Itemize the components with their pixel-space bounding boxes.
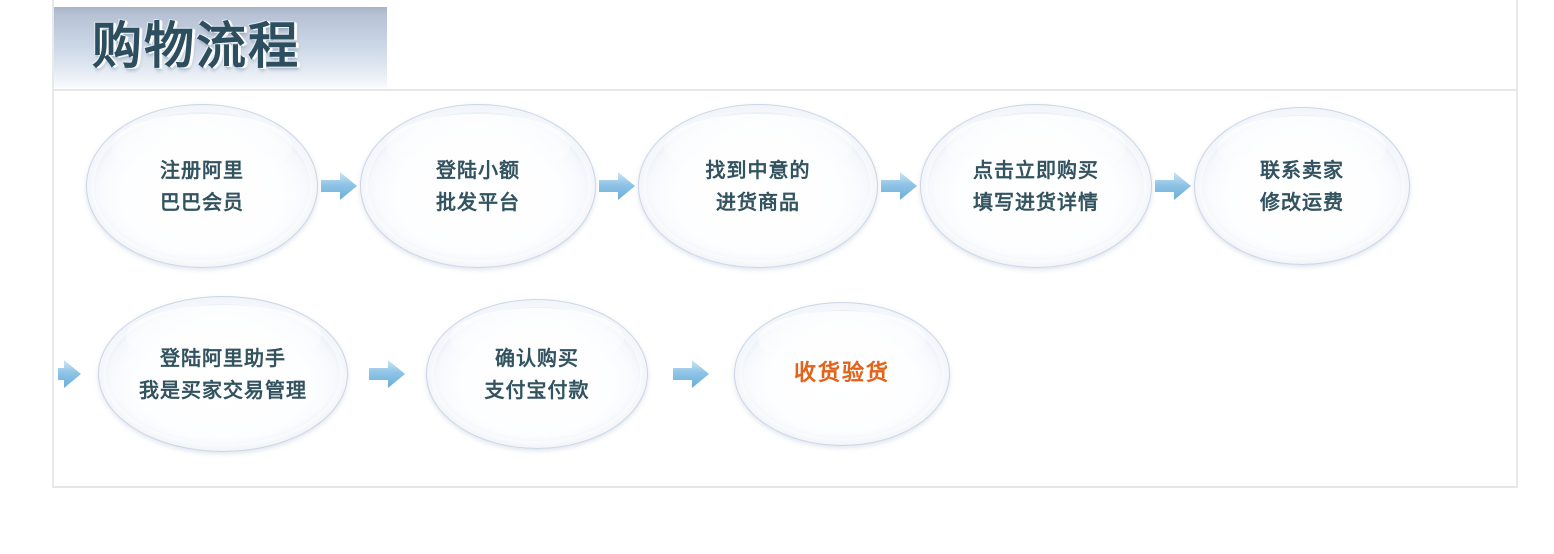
flow-node-line-2: 批发平台 — [436, 190, 520, 214]
flow-node-ali-assistant[interactable]: 登陆阿里助手 我是买家交易管理 — [98, 296, 348, 452]
page-canvas: 购物流程 注册阿里 巴巴会员 — [0, 0, 1554, 554]
flow-node-line-1: 注册阿里 — [160, 158, 244, 182]
flow-node-label: 点击立即购买 填写进货详情 — [973, 154, 1099, 218]
right-arrow-icon — [670, 356, 712, 392]
flow-node-contact-seller[interactable]: 联系卖家 修改运费 — [1194, 107, 1410, 265]
flow-node-label: 确认购买 支付宝付款 — [485, 342, 590, 406]
title-divider — [54, 89, 1518, 91]
flow-node-label: 联系卖家 修改运费 — [1260, 154, 1344, 218]
flow-node-receive-inspect[interactable]: 收货验货 — [734, 302, 950, 446]
flow-node-line-2: 修改运费 — [1260, 190, 1344, 214]
flow-node-line-1: 登陆阿里助手 — [160, 346, 286, 370]
flow-node-line-1: 点击立即购买 — [973, 158, 1099, 182]
flow-node-login-wholesale[interactable]: 登陆小额 批发平台 — [360, 104, 596, 268]
page-title: 购物流程 — [92, 16, 300, 76]
flow-node-line-1: 收货验货 — [794, 361, 890, 386]
flow-node-label: 登陆阿里助手 我是买家交易管理 — [139, 342, 307, 406]
flow-node-line-2: 我是买家交易管理 — [139, 378, 307, 402]
flow-node-line-1: 确认购买 — [495, 346, 579, 370]
flow-node-buy-now[interactable]: 点击立即购买 填写进货详情 — [920, 104, 1152, 268]
flow-node-label: 登陆小额 批发平台 — [436, 154, 520, 218]
flow-row-2: 登陆阿里助手 我是买家交易管理 确认购买 支付宝付款 — [58, 296, 950, 452]
flow-row-1: 注册阿里 巴巴会员 — [86, 104, 1410, 268]
flow-node-register[interactable]: 注册阿里 巴巴会员 — [86, 104, 318, 268]
flow-node-label: 注册阿里 巴巴会员 — [160, 154, 244, 218]
right-arrow-icon — [58, 356, 84, 392]
right-arrow-icon — [596, 168, 638, 204]
flow-node-find-goods[interactable]: 找到中意的 进货商品 — [638, 104, 878, 268]
flow-node-line-2: 巴巴会员 — [160, 190, 244, 214]
right-arrow-icon — [878, 168, 920, 204]
shopping-flow-panel: 购物流程 注册阿里 巴巴会员 — [52, 0, 1518, 488]
right-arrow-icon — [318, 168, 360, 204]
flow-node-line-1: 找到中意的 — [706, 158, 811, 182]
flow-node-line-2: 进货商品 — [716, 190, 800, 214]
flow-node-line-1: 联系卖家 — [1260, 158, 1344, 182]
flow-node-label: 找到中意的 进货商品 — [706, 154, 811, 218]
flow-node-confirm-pay[interactable]: 确认购买 支付宝付款 — [426, 299, 648, 449]
flow-node-line-1: 登陆小额 — [436, 158, 520, 182]
flow-node-label: 收货验货 — [794, 358, 890, 390]
flow-node-line-2: 支付宝付款 — [485, 378, 590, 402]
panel-title-bar: 购物流程 — [54, 7, 387, 89]
right-arrow-icon — [366, 356, 408, 392]
right-arrow-icon — [1152, 168, 1194, 204]
flow-node-line-2: 填写进货详情 — [973, 190, 1099, 214]
